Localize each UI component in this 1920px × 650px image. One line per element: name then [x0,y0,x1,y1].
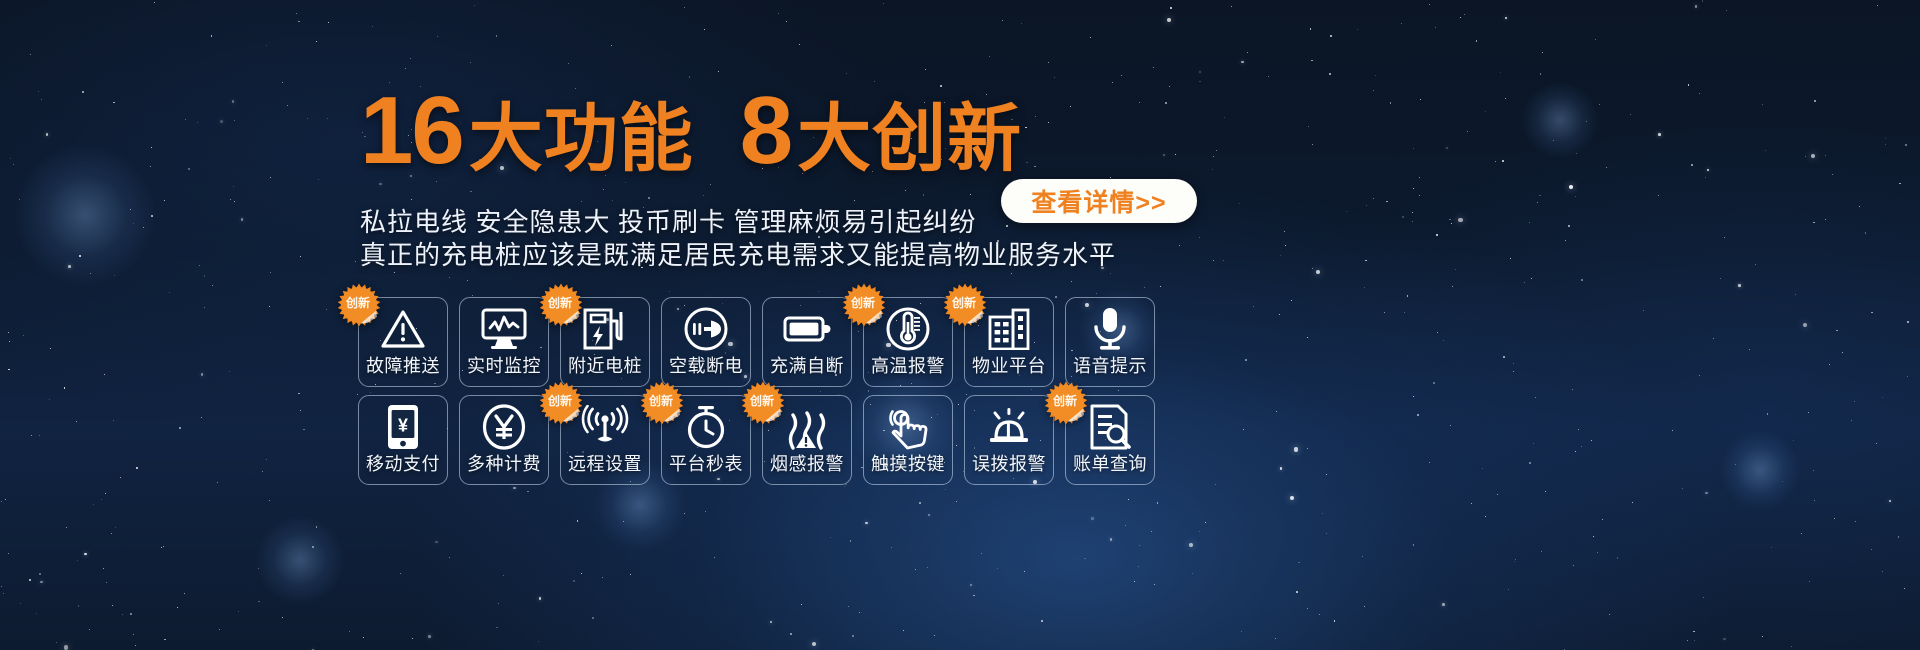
subtitle-line-2: 真正的充电桩应该是既满足居民充电需求又能提高物业服务水平 [360,239,1116,272]
feature-tile-monitor-waveform[interactable]: 实时监控 [459,297,549,387]
feature-tile-alarm-bell[interactable]: 误拨报警 [964,395,1054,485]
yuan-circle-icon [482,400,526,454]
feature-tile-label: 烟感报警 [770,454,844,474]
feature-tile-label: 附近电桩 [568,356,642,376]
innovation-badge-label: 创新 [1053,392,1077,409]
building-icon [987,302,1031,356]
innovation-badge: 创新 [943,283,987,327]
feature-tile-label: 平台秒表 [669,454,743,474]
feature-tile-battery-full[interactable]: 充满自断 [762,297,852,387]
feature-tile-label: 移动支付 [366,454,440,474]
feature-tile-label: 高温报警 [871,356,945,376]
plug-circle-icon [683,302,729,356]
feature-tile-thermometer-circle[interactable]: 创新高温报警 [863,297,953,387]
feature-tile-label: 语音提示 [1073,356,1147,376]
feature-tile-touch-hand[interactable]: 触摸按键 [863,395,953,485]
innovation-badge-label: 创新 [649,392,673,409]
charging-pile-icon [582,302,628,356]
feature-tile-microphone[interactable]: 语音提示 [1065,297,1155,387]
feature-tile-label: 触摸按键 [871,454,945,474]
feature-tile-plug-circle[interactable]: 空载断电 [661,297,751,387]
microphone-icon [1091,302,1129,356]
feature-tile-document-search[interactable]: 创新账单查询 [1065,395,1155,485]
innovation-badge-label: 创新 [952,294,976,311]
feature-tile-charging-pile[interactable]: 创新附近电桩 [560,297,650,387]
feature-tile-label: 误拨报警 [972,454,1046,474]
feature-tile-label: 多种计费 [467,454,541,474]
innovation-badge: 创新 [337,283,381,327]
feature-tile-mobile-yuan[interactable]: ¥移动支付 [358,395,448,485]
feature-grid: 创新故障推送实时监控创新附近电桩空载断电充满自断创新高温报警创新物业平台语音提示… [358,297,1566,485]
feature-tile-stopwatch[interactable]: 创新平台秒表 [661,395,751,485]
innovation-badge: 创新 [842,283,886,327]
headline-number-8: 8 [740,88,791,174]
feature-tile-label: 空载断电 [669,356,743,376]
feature-tile-building[interactable]: 创新物业平台 [964,297,1054,387]
banner-stage: 16 大功能 8 大创新 查看详情>> 私拉电线 安全隐患大 投币刷卡 管理麻烦… [0,0,1920,650]
feature-tile-label: 充满自断 [770,356,844,376]
stopwatch-icon [684,400,728,454]
feature-row-2: ¥移动支付多种计费创新远程设置创新平台秒表创新烟感报警触摸按键误拨报警创新账单查… [358,395,1566,485]
feature-tile-label: 物业平台 [972,356,1046,376]
feature-tile-yuan-circle[interactable]: 多种计费 [459,395,549,485]
monitor-waveform-icon [481,302,527,356]
innovation-badge: 创新 [1044,381,1088,425]
feature-tile-label: 账单查询 [1073,454,1147,474]
feature-row-1: 创新故障推送实时监控创新附近电桩空载断电充满自断创新高温报警创新物业平台语音提示 [358,297,1566,387]
warning-triangle-icon [381,302,425,356]
innovation-badge-label: 创新 [851,294,875,311]
feature-tile-label: 故障推送 [366,356,440,376]
innovation-badge-label: 创新 [548,294,572,311]
smoke-alarm-icon [783,400,831,454]
innovation-badge-label: 创新 [750,392,774,409]
page-title: 16 大功能 8 大创新 [360,88,1022,174]
alarm-bell-icon [986,400,1032,454]
innovation-badge: 创新 [539,381,583,425]
headline-text-innovations: 大创新 [797,104,1022,174]
antenna-signal-icon [580,400,630,454]
svg-text:¥: ¥ [398,416,408,436]
thermometer-circle-icon [885,302,931,356]
feature-tile-antenna-signal[interactable]: 创新远程设置 [560,395,650,485]
feature-tile-label: 实时监控 [467,356,541,376]
headline-text-functions: 大功能 [469,104,694,174]
innovation-badge: 创新 [539,283,583,327]
feature-tile-smoke-alarm[interactable]: 创新烟感报警 [762,395,852,485]
document-search-icon [1088,400,1132,454]
innovation-badge-label: 创新 [346,294,370,311]
feature-tile-warning-triangle[interactable]: 创新故障推送 [358,297,448,387]
mobile-yuan-icon: ¥ [386,400,420,454]
subtitle-line-1: 私拉电线 安全隐患大 投币刷卡 管理麻烦易引起纠纷 [360,206,1116,239]
headline-number-16: 16 [360,88,463,174]
touch-hand-icon [885,400,931,454]
subtitle-block: 私拉电线 安全隐患大 投币刷卡 管理麻烦易引起纠纷 真正的充电桩应该是既满足居民… [360,206,1116,272]
feature-tile-label: 远程设置 [568,454,642,474]
innovation-badge: 创新 [640,381,684,425]
battery-full-icon [783,302,831,356]
innovation-badge: 创新 [741,381,785,425]
innovation-badge-label: 创新 [548,392,572,409]
